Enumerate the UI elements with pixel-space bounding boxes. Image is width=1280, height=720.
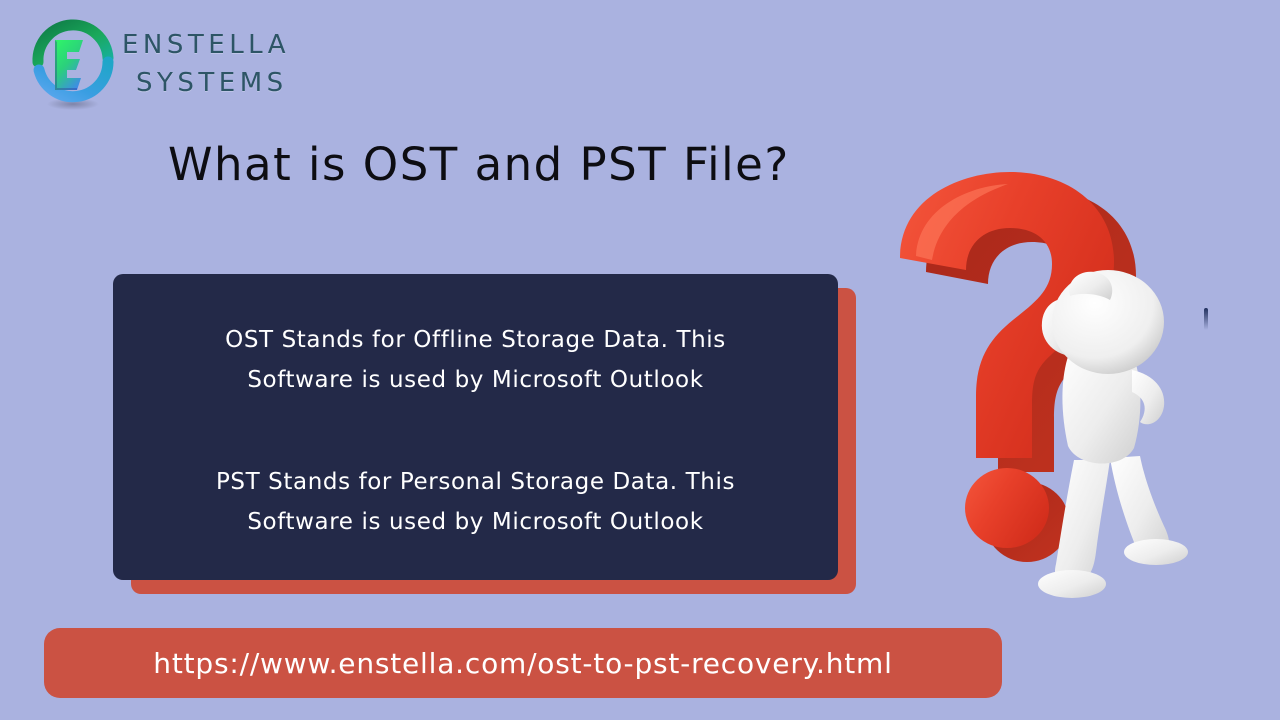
brand-name-line-2: SYSTEMS	[122, 64, 322, 102]
thinking-figure	[1038, 270, 1188, 598]
stray-tick-mark	[1204, 308, 1208, 330]
question-mark-illustration	[860, 160, 1220, 600]
content-card: OST Stands for Offline Storage Data. Thi…	[113, 274, 838, 580]
content-card-body: OST Stands for Offline Storage Data. Thi…	[113, 274, 838, 580]
page-title: What is OST and PST File?	[168, 138, 790, 191]
slide-canvas: ENSTELLA SYSTEMS What is OST and PST Fil…	[0, 0, 1280, 720]
brand-logo-text: ENSTELLA SYSTEMS	[122, 26, 322, 102]
enstella-circular-e-logo-icon	[26, 18, 120, 112]
brand-logo[interactable]: ENSTELLA SYSTEMS	[22, 16, 322, 116]
website-url-banner[interactable]: https://www.enstella.com/ost-to-pst-reco…	[44, 628, 1002, 698]
website-url-text: https://www.enstella.com/ost-to-pst-reco…	[153, 647, 892, 680]
ost-definition-text: OST Stands for Offline Storage Data. Thi…	[176, 320, 776, 400]
brand-name-line-1: ENSTELLA	[122, 26, 322, 64]
pst-definition-text: PST Stands for Personal Storage Data. Th…	[176, 462, 776, 542]
